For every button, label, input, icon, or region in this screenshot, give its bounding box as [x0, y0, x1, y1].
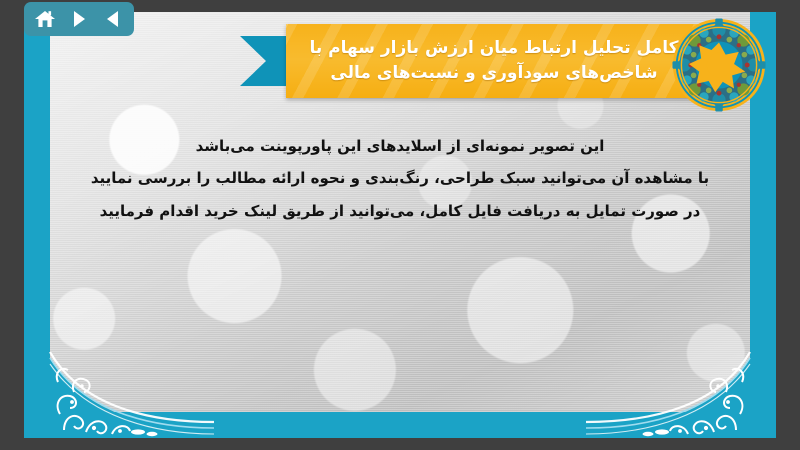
slide-border-bottom: [24, 412, 776, 438]
slide-body-text: این تصویر نمونه‌ای از اسلایدهای این پاور…: [64, 130, 736, 227]
slide-canvas: کامل تحلیل ارتباط میان ارزش بازار سهام ب…: [24, 12, 776, 438]
slide-viewer: کامل تحلیل ارتباط میان ارزش بازار سهام ب…: [0, 0, 800, 450]
banner-body: کامل تحلیل ارتباط میان ارزش بازار سهام ب…: [286, 24, 702, 98]
persian-medallion-ornament: [672, 18, 766, 112]
title-line-1: کامل تحلیل ارتباط میان ارزش بازار سهام ب…: [310, 36, 679, 61]
title-line-2: شاخص‌های سودآوری و نسبت‌های مالی: [330, 61, 657, 86]
next-slide-button[interactable]: [64, 6, 94, 32]
body-line-2: با مشاهده آن می‌توانید سبک طراحی، رنگ‌بن…: [64, 162, 736, 194]
previous-slide-button[interactable]: [98, 6, 128, 32]
slide-title-banner: کامل تحلیل ارتباط میان ارزش بازار سهام ب…: [240, 24, 760, 98]
home-icon: [34, 9, 56, 29]
home-button[interactable]: [30, 6, 60, 32]
slide-navigation-bar: [24, 2, 134, 36]
triangle-left-icon: [104, 9, 122, 29]
body-line-3: در صورت تمایل به دریافت فایل کامل، می‌تو…: [64, 195, 736, 227]
body-line-1: این تصویر نمونه‌ای از اسلایدهای این پاور…: [64, 130, 736, 162]
triangle-right-icon: [70, 9, 88, 29]
